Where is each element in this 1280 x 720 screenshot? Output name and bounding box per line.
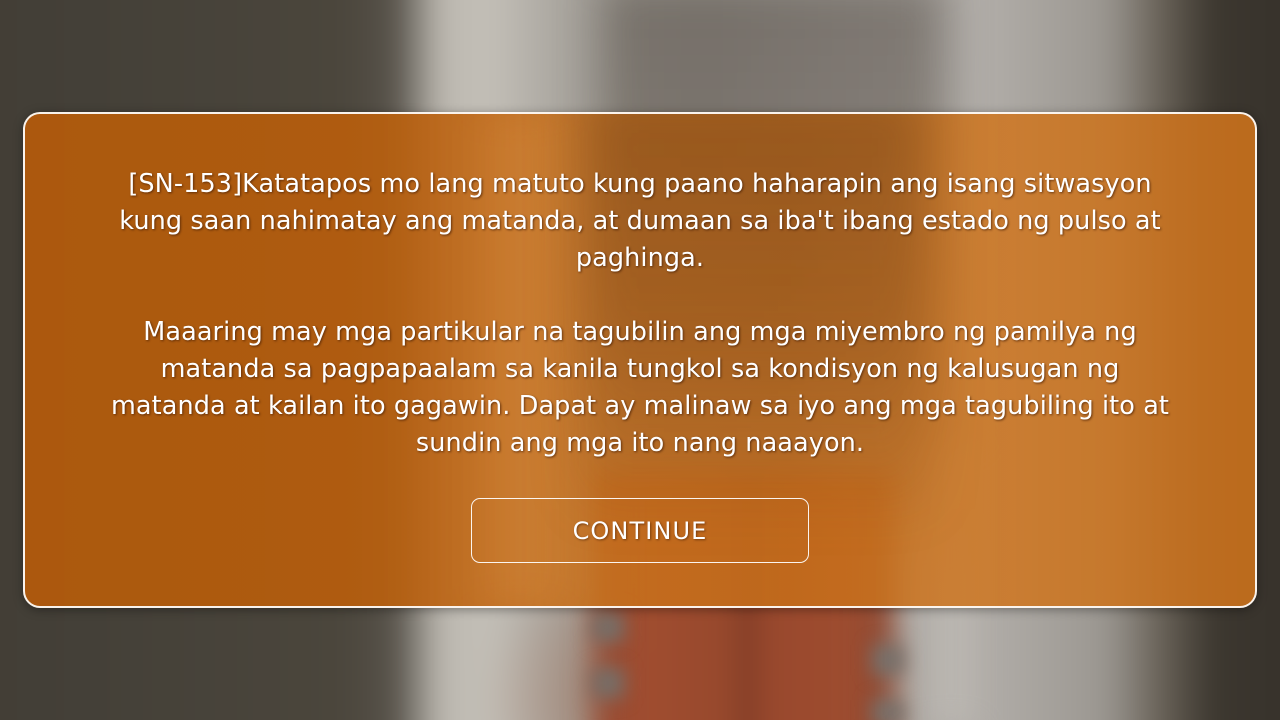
dialog-paragraph-1: [SN-153]Katatapos mo lang matuto kung pa… (105, 166, 1175, 277)
dialog-button-row: CONTINUE (25, 498, 1255, 563)
continue-button[interactable]: CONTINUE (471, 498, 809, 563)
screen: [SN-153]Katatapos mo lang matuto kung pa… (0, 0, 1280, 720)
background-vest-stripe (592, 612, 624, 642)
dialog-paragraph-2: Maaaring may mga partikular na tagubilin… (105, 314, 1175, 462)
info-dialog-panel: [SN-153]Katatapos mo lang matuto kung pa… (23, 112, 1257, 608)
dialog-content: [SN-153]Katatapos mo lang matuto kung pa… (25, 114, 1255, 462)
background-vest-stripe (592, 668, 624, 698)
paragraph-spacer (77, 277, 1203, 314)
